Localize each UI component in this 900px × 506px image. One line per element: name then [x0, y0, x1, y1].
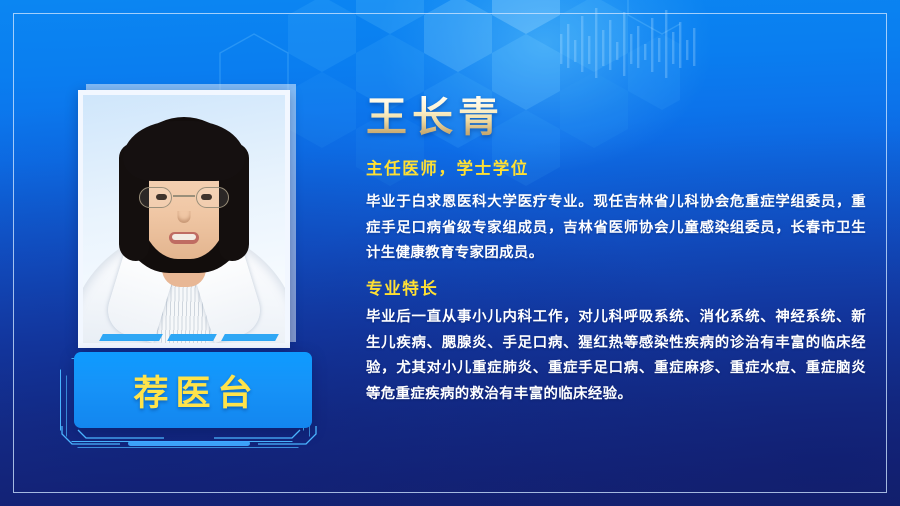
plate-bracket-decoration — [60, 424, 318, 452]
glasses-icon — [139, 187, 229, 209]
plate-label: 荐医台 — [126, 365, 259, 416]
data-bars-decoration — [556, 0, 706, 95]
doctor-info: 王长青 主任医师，学士学位 毕业于白求恩医科大学医疗专业。现任吉林省儿科协会危重… — [366, 96, 866, 407]
doctor-profile-card: 荐医台 王长青 主任医师，学士学位 毕业于白求恩医科大学医疗专业。现任吉林省儿科… — [0, 0, 900, 506]
doctor-title: 主任医师，学士学位 — [366, 155, 866, 179]
recommend-plate[interactable]: 荐医台 — [74, 352, 312, 428]
doctor-specialty: 毕业后一直从事小儿内科工作，对儿科呼吸系统、消化系统、神经系统、新生儿疾病、腮腺… — [366, 304, 866, 407]
photo-banner-stripes — [83, 327, 285, 343]
photo-frame — [78, 90, 296, 348]
specialty-heading: 专业特长 — [366, 275, 866, 299]
doctor-photo — [83, 95, 285, 343]
doctor-bio: 毕业于白求恩医科大学医疗专业。现任吉林省儿科协会危重症学组委员，重症手足口病省级… — [366, 189, 866, 266]
doctor-name: 王长青 — [366, 96, 866, 139]
photo-card — [78, 90, 290, 348]
plate-area: 荐医台 — [60, 352, 318, 452]
